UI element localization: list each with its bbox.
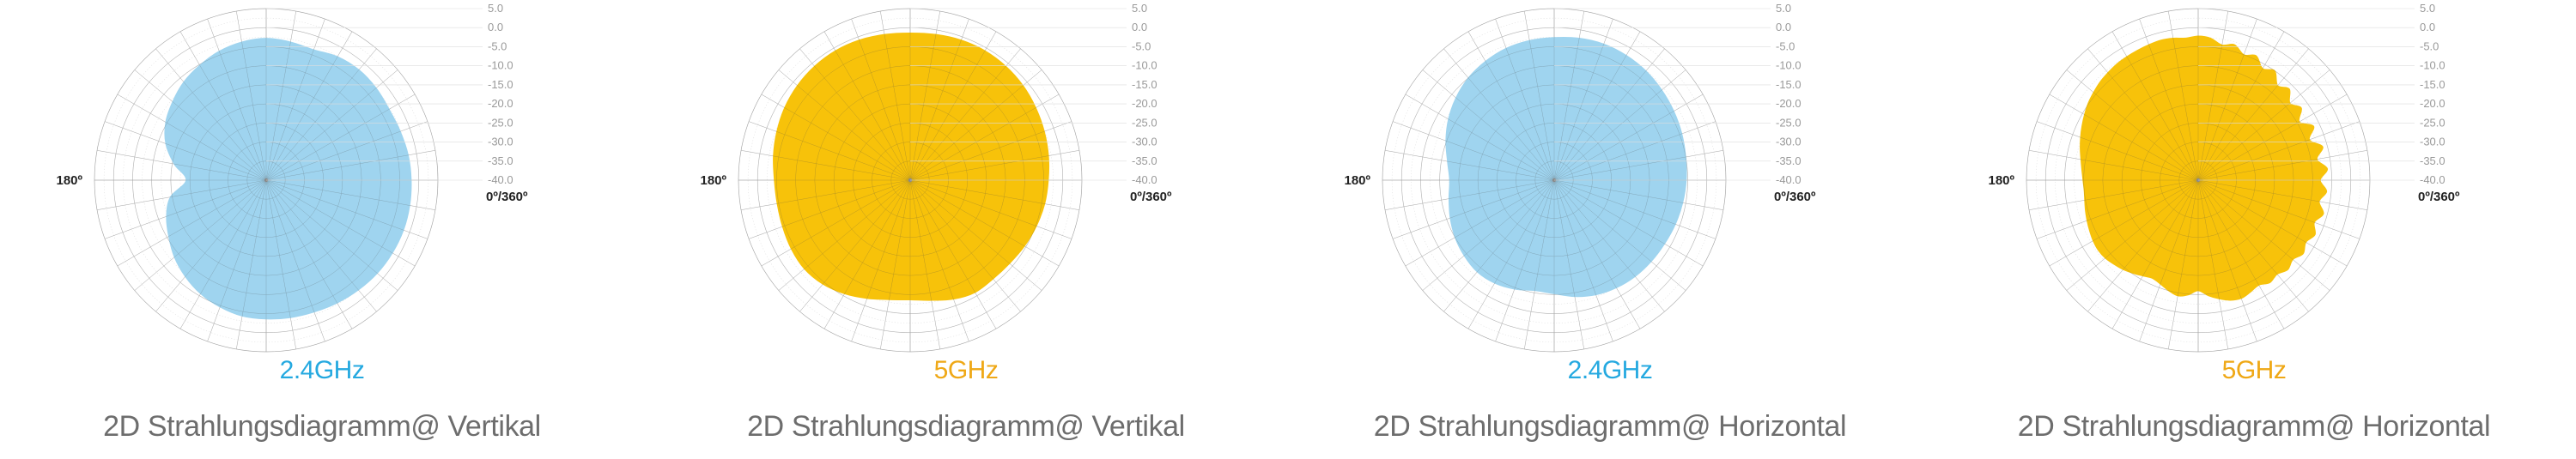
radial-tick-label: -30.0 — [488, 136, 513, 148]
polar-plot: 5.00.0-5.0-10.0-15.0-20.0-25.0-30.0-35.0… — [0, 0, 644, 360]
radial-tick-label: -15.0 — [1776, 78, 1801, 91]
radial-tick-label: -25.0 — [2420, 116, 2445, 129]
radial-tick-label: -40.0 — [488, 173, 513, 186]
radial-tick-label: -10.0 — [1132, 59, 1157, 72]
radiation-pattern-panels: 5.00.0-5.0-10.0-15.0-20.0-25.0-30.0-35.0… — [0, 0, 2576, 459]
polar-plot: 5.00.0-5.0-10.0-15.0-20.0-25.0-30.0-35.0… — [1288, 0, 1932, 360]
radial-tick-label: -15.0 — [2420, 78, 2445, 91]
angle-label-180: 180º — [56, 173, 82, 188]
radiation-pattern-area — [165, 39, 411, 319]
radial-tick-label: -30.0 — [1132, 136, 1157, 148]
radial-tick-label: 0.0 — [2420, 21, 2435, 33]
radial-tick-label: -40.0 — [2420, 173, 2445, 186]
radial-tick-label: 5.0 — [488, 2, 503, 15]
angle-label-180: 180º — [1988, 173, 2014, 188]
radial-tick-label: -15.0 — [1132, 78, 1157, 91]
chart-caption: 2D Strahlungsdiagramm@ Vertikal — [644, 410, 1288, 444]
radial-tick-label: -25.0 — [1776, 116, 1801, 129]
radial-tick-label: -20.0 — [1132, 97, 1157, 110]
radial-tick-label: -15.0 — [488, 78, 513, 91]
radial-tick-label: 5.0 — [2420, 2, 2435, 15]
radial-tick-label: 5.0 — [1776, 2, 1791, 15]
radial-tick-label: -30.0 — [2420, 136, 2445, 148]
chart-caption: 2D Strahlungsdiagramm@ Horizontal — [1288, 410, 1932, 444]
radial-tick-label: -5.0 — [2420, 39, 2439, 52]
radial-tick-label: 0.0 — [1776, 21, 1791, 33]
radial-tick-label: -5.0 — [1776, 39, 1795, 52]
radial-tick-label: -30.0 — [1776, 136, 1801, 148]
plot-area: 5.00.0-5.0-10.0-15.0-20.0-25.0-30.0-35.0… — [0, 0, 644, 360]
radial-tick-label: -10.0 — [2420, 59, 2445, 72]
radial-tick-label: 0.0 — [1132, 21, 1147, 33]
radial-tick-label: -5.0 — [488, 39, 507, 52]
chart-panel: 5.00.0-5.0-10.0-15.0-20.0-25.0-30.0-35.0… — [1932, 0, 2576, 459]
radial-tick-label: -10.0 — [488, 59, 513, 72]
radial-tick-label: 5.0 — [1132, 2, 1147, 15]
radial-tick-label: -35.0 — [488, 154, 513, 167]
radial-tick-label: -35.0 — [1776, 154, 1801, 167]
frequency-band-label: 5GHz — [1932, 356, 2576, 385]
radial-tick-label: -20.0 — [1776, 97, 1801, 110]
polar-plot: 5.00.0-5.0-10.0-15.0-20.0-25.0-30.0-35.0… — [644, 0, 1288, 360]
angle-label-0-360: 0º/360º — [2418, 190, 2460, 204]
chart-panel: 5.00.0-5.0-10.0-15.0-20.0-25.0-30.0-35.0… — [1288, 0, 1932, 459]
radial-tick-label: -10.0 — [1776, 59, 1801, 72]
chart-caption: 2D Strahlungsdiagramm@ Horizontal — [1932, 410, 2576, 444]
radial-tick-label: -25.0 — [1132, 116, 1157, 129]
radial-tick-label: -5.0 — [1132, 39, 1151, 52]
frequency-band-label: 2.4GHz — [1288, 356, 1932, 385]
radiation-pattern-area — [1446, 38, 1686, 297]
radial-tick-label: -20.0 — [2420, 97, 2445, 110]
angle-label-0-360: 0º/360º — [1130, 190, 1172, 204]
frequency-band-label: 2.4GHz — [0, 356, 644, 385]
radial-tick-label: -35.0 — [2420, 154, 2445, 167]
frequency-band-label: 5GHz — [644, 356, 1288, 385]
chart-caption: 2D Strahlungsdiagramm@ Vertikal — [0, 410, 644, 444]
angle-label-180: 180º — [1344, 173, 1370, 188]
radiation-pattern-area — [2081, 36, 2328, 300]
radial-tick-label: 0.0 — [488, 21, 503, 33]
chart-panel: 5.00.0-5.0-10.0-15.0-20.0-25.0-30.0-35.0… — [644, 0, 1288, 459]
polar-plot: 5.00.0-5.0-10.0-15.0-20.0-25.0-30.0-35.0… — [1932, 0, 2576, 360]
angle-label-180: 180º — [700, 173, 726, 188]
chart-panel: 5.00.0-5.0-10.0-15.0-20.0-25.0-30.0-35.0… — [0, 0, 644, 459]
plot-area: 5.00.0-5.0-10.0-15.0-20.0-25.0-30.0-35.0… — [1288, 0, 1932, 360]
angle-label-0-360: 0º/360º — [1774, 190, 1816, 204]
radial-tick-label: -25.0 — [488, 116, 513, 129]
radial-tick-label: -20.0 — [488, 97, 513, 110]
plot-area: 5.00.0-5.0-10.0-15.0-20.0-25.0-30.0-35.0… — [644, 0, 1288, 360]
angle-label-0-360: 0º/360º — [486, 190, 528, 204]
plot-area: 5.00.0-5.0-10.0-15.0-20.0-25.0-30.0-35.0… — [1932, 0, 2576, 360]
radial-tick-label: -40.0 — [1776, 173, 1801, 186]
radial-tick-label: -35.0 — [1132, 154, 1157, 167]
radial-tick-label: -40.0 — [1132, 173, 1157, 186]
